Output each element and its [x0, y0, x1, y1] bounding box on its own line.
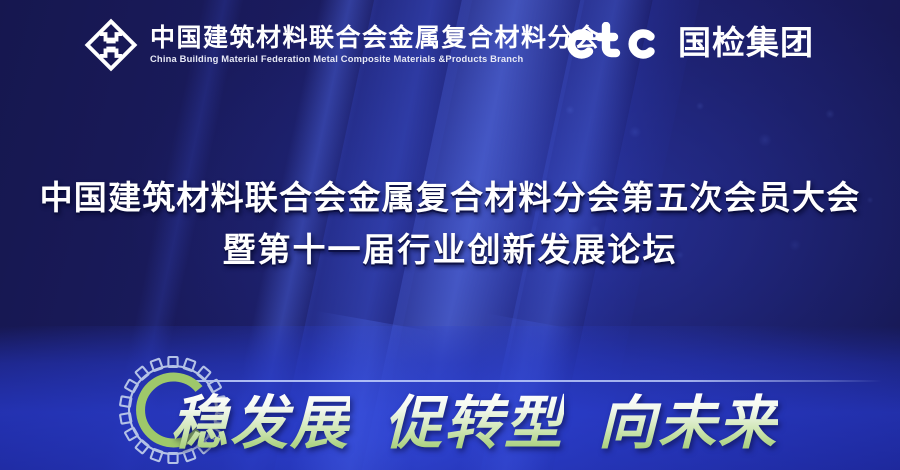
cbmf-logo-lockup: 中国建筑材料联合会金属复合材料分会 China Building Materia… [84, 18, 601, 72]
cbmf-name-cn: 中国建筑材料联合会金属复合材料分会 [150, 25, 601, 52]
conference-poster: 中国建筑材料联合会金属复合材料分会 China Building Materia… [0, 0, 900, 470]
cbmf-diamond-logo-icon [84, 18, 138, 72]
horizontal-rule-icon [186, 380, 882, 382]
cbmf-name-block: 中国建筑材料联合会金属复合材料分会 China Building Materia… [150, 25, 601, 65]
slogan-word-2: 促转型 [384, 392, 564, 457]
poster-header: 中国建筑材料联合会金属复合材料分会 China Building Materia… [0, 0, 900, 86]
title-line-1: 中国建筑材料联合会金属复合材料分会第五次会员大会 [0, 172, 900, 224]
slogan-word-3: 向未来 [598, 392, 778, 457]
cbmf-name-en: China Building Material Federation Metal… [150, 54, 594, 65]
slogan-row: 稳发展 促转型 向未来 [170, 392, 870, 457]
ctc-name-cn: 国检集团 [678, 26, 814, 59]
ctc-logo-lockup: 国检集团 [566, 22, 814, 62]
slogan-word-1: 稳发展 [170, 392, 350, 457]
ctc-wordmark-icon [566, 22, 662, 62]
title-line-2: 暨第十一届行业创新发展论坛 [0, 224, 900, 276]
poster-title-block: 中国建筑材料联合会金属复合材料分会第五次会员大会 暨第十一届行业创新发展论坛 [0, 172, 900, 276]
